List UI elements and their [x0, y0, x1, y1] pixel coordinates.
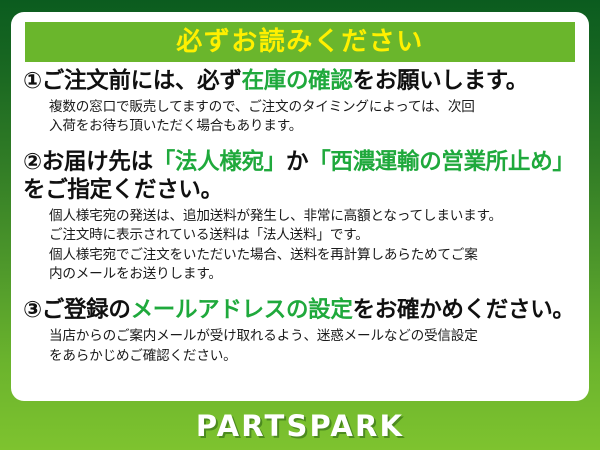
notice-item-3-heading-part-1: ご登録の — [42, 297, 131, 323]
notice-title-text: 必ずお読みください — [176, 29, 424, 55]
notice-item-list: ①ご注文前には、必ず在庫の確認をお願いします。 複数の窓口で販売してますので、ご… — [11, 68, 589, 366]
notice-item-2-subline-3: 個人様宅宛でご注文をいただいた場合、送料を再計算しあらためてご案 — [49, 246, 581, 266]
notice-item-1-subline-2: 入荷をお待ち頂いただく場合もあります。 — [49, 117, 581, 137]
notice-item-1-heading-highlight: 在庫の確認 — [242, 68, 353, 94]
notice-item-2-subline-4: 内のメールをお送りします。 — [49, 265, 581, 285]
notice-item-1-heading: ①ご注文前には、必ず在庫の確認をお願いします。 — [23, 68, 581, 96]
notice-item-2-heading-highlight-2: 「西濃運輸の営業所止め」 — [308, 149, 574, 175]
notice-item-2-number: ② — [23, 149, 42, 175]
notice-item-2-heading-part-3: か — [286, 149, 308, 175]
notice-item-3-subline-2: をあらかじめご確認ください。 — [49, 347, 581, 367]
footer-brand-bar: PARTSPARK — [0, 401, 600, 450]
notice-content-panel: 必ずお読みください ①ご注文前には、必ず在庫の確認をお願いします。 複数の窓口で… — [11, 12, 589, 401]
notice-item-3-heading: ③ご登録のメールアドレスの設定をお確かめください。 — [23, 297, 581, 325]
notice-item-3-number: ③ — [23, 297, 42, 323]
notice-item-2: ②お届け先は「法人様宛」か「西濃運輸の営業所止め」をご指定ください。 個人様宅宛… — [11, 149, 589, 285]
notice-item-3-subtext: 当店からのご案内メールが受け取れるよう、迷惑メールなどの受信設定 をあらかじめご… — [49, 327, 581, 366]
notice-item-2-heading: ②お届け先は「法人様宛」か「西濃運輸の営業所止め」をご指定ください。 — [23, 149, 581, 205]
brand-name-partspark: PARTSPARK — [196, 409, 404, 443]
notice-item-2-subline-1: 個人様宅宛の発送は、追加送料が発生し、非常に高額となってしまいます。 — [49, 207, 581, 227]
notice-item-2-heading-part-5: をご指定ください。 — [23, 177, 223, 203]
notice-title-banner: 必ずお読みください — [25, 22, 575, 62]
notice-item-2-heading-part-1: お届け先は — [42, 149, 153, 175]
notice-item-2-heading-highlight-1: 「法人様宛」 — [153, 149, 286, 175]
notice-item-3: ③ご登録のメールアドレスの設定をお確かめください。 当店からのご案内メールが受け… — [11, 297, 589, 366]
notice-item-1-number: ① — [23, 68, 42, 94]
notice-item-1: ①ご注文前には、必ず在庫の確認をお願いします。 複数の窓口で販売してますので、ご… — [11, 68, 589, 137]
notice-item-1-subtext: 複数の窓口で販売してますので、ご注文のタイミングによっては、次回 入荷をお待ち頂… — [49, 98, 581, 137]
notice-item-3-heading-part-3: をお確かめください。 — [353, 297, 575, 323]
notice-item-2-subtext: 個人様宅宛の発送は、追加送料が発生し、非常に高額となってしまいます。 ご注文時に… — [49, 207, 581, 285]
notice-item-1-heading-part-3: をお願いします。 — [353, 68, 528, 94]
notice-item-1-subline-1: 複数の窓口で販売してますので、ご注文のタイミングによっては、次回 — [49, 98, 581, 118]
notice-item-3-heading-highlight: メールアドレスの設定 — [131, 297, 353, 323]
notice-item-3-subline-1: 当店からのご案内メールが受け取れるよう、迷惑メールなどの受信設定 — [49, 327, 581, 347]
notice-card: 必ずお読みください ①ご注文前には、必ず在庫の確認をお願いします。 複数の窓口で… — [0, 0, 600, 450]
notice-item-2-subline-2: ご注文時に表示されている送料は「法人送料」です。 — [49, 226, 581, 246]
notice-item-1-heading-part-1: ご注文前には、必ず — [42, 68, 242, 94]
